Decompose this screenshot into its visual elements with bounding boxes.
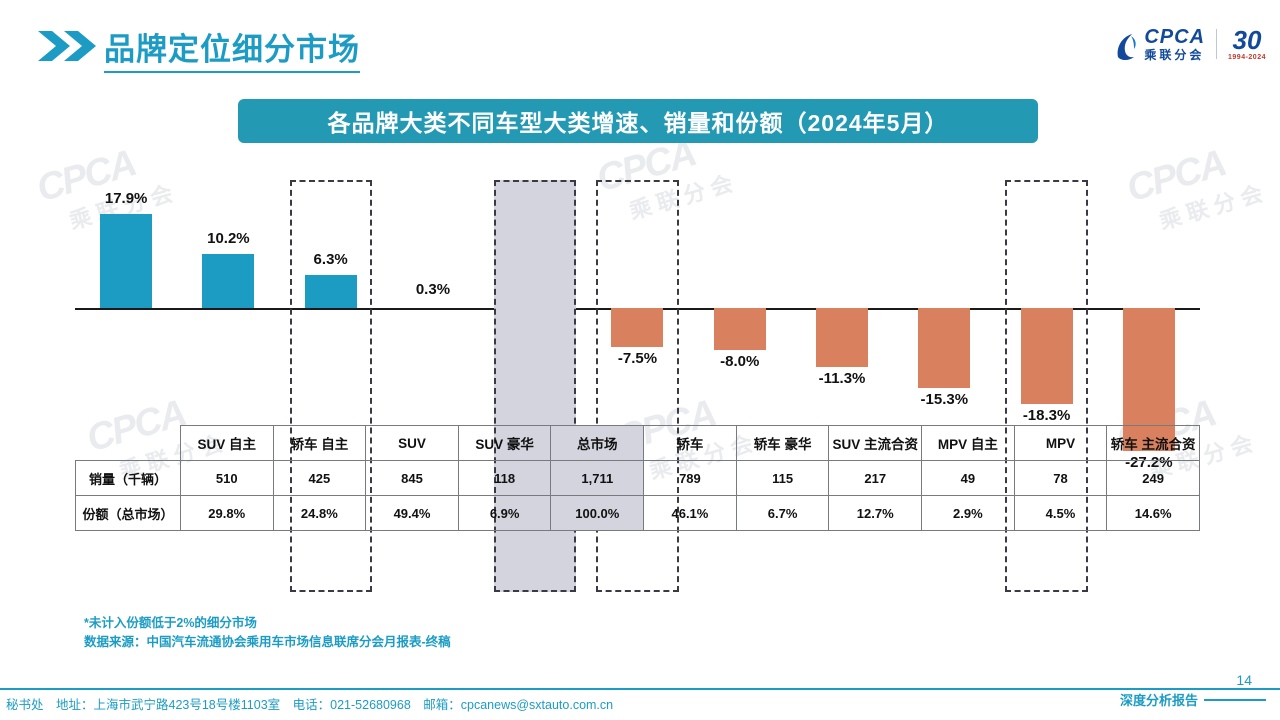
page-number: 14 [1236, 672, 1252, 688]
bar-value-label: 10.2% [207, 230, 250, 247]
cada-swirl-icon [1114, 31, 1140, 61]
sales-row-cell: 249 [1107, 461, 1200, 496]
table-header-cell: 轿车 主流合资 [1107, 426, 1200, 461]
sales-row-cell: 78 [1014, 461, 1107, 496]
footer-contact: 秘书处 地址：上海市武宁路423号18号楼1103室 电话：021-526809… [6, 694, 613, 713]
logo-brand: CPCA [1144, 27, 1205, 47]
bar-value-label: 17.9% [105, 190, 148, 207]
logo-mark: CPCA 乘联分会 [1114, 27, 1205, 61]
chart-title-banner: 各品牌大类不同车型大类增速、销量和份额（2024年5月） [238, 99, 1038, 143]
bar-MPV 自主[interactable] [918, 308, 970, 388]
logo-divider [1216, 29, 1217, 59]
data-table: SUV 自主轿车 自主SUVSUV 豪华总市场轿车轿车 豪华SUV 主流合资MP… [75, 425, 1200, 531]
table-header-cell: SUV [366, 426, 459, 461]
table-corner-cell [76, 426, 181, 461]
table-header-cell: 总市场 [551, 426, 644, 461]
bar-轿车 自主[interactable] [202, 254, 254, 308]
sales-row-cell: 115 [736, 461, 829, 496]
footnote: *未计入份额低于2%的细分市场 数据来源：中国汽车流通协会乘用车市场信息联席分会… [84, 614, 451, 653]
footer-brand-rule [1204, 699, 1266, 701]
table-row: SUV 自主轿车 自主SUVSUV 豪华总市场轿车轿车 豪华SUV 主流合资MP… [76, 426, 1200, 461]
table-header-cell: SUV 主流合资 [829, 426, 922, 461]
share-row-cell: 46.1% [644, 496, 737, 531]
share-row-cell: 2.9% [922, 496, 1015, 531]
bar-value-label: -11.3% [819, 370, 866, 387]
bar-轿车 豪华[interactable] [714, 308, 766, 350]
share-row-cell: 6.7% [736, 496, 829, 531]
share-row-cell: 29.8% [180, 496, 273, 531]
page-title: 品牌定位细分市场 [104, 24, 360, 73]
table-header-cell: 轿车 豪华 [736, 426, 829, 461]
bar-value-label: -8.0% [720, 353, 759, 370]
sales-row-cell: 789 [644, 461, 737, 496]
sales-row-cell: 49 [922, 461, 1015, 496]
share-row-cell: 6.9% [458, 496, 551, 531]
table-header-cell: 轿车 [644, 426, 737, 461]
table-row: 份额（总市场）29.8%24.8%49.4%6.9%100.0%46.1%6.7… [76, 496, 1200, 531]
bar-SUV 主流合资[interactable] [816, 308, 868, 367]
sales-row-cell: 425 [273, 461, 366, 496]
table-header-cell: MPV [1014, 426, 1107, 461]
share-row-cell: 12.7% [829, 496, 922, 531]
anniversary-number: 30 [1233, 27, 1262, 53]
sales-row-label: 销量（千辆） [76, 461, 181, 496]
bar-SUV 自主[interactable] [100, 214, 152, 308]
table-header-cell: 轿车 自主 [273, 426, 366, 461]
table-header-cell: MPV 自主 [922, 426, 1015, 461]
bar-value-label: 0.3% [416, 281, 450, 298]
sales-row-cell: 1,711 [551, 461, 644, 496]
footnote-line-2: 数据来源：中国汽车流通协会乘用车市场信息联席分会月报表-终稿 [84, 633, 451, 652]
table-header-cell: SUV 自主 [180, 426, 273, 461]
anniversary-years: 1994-2024 [1228, 54, 1266, 61]
sales-row-cell: 118 [458, 461, 551, 496]
double-chevron-right-icon [38, 29, 98, 63]
cpca-logo: CPCA 乘联分会 30 1994-2024 [1114, 22, 1266, 66]
footer-brand: 深度分析报告 [1120, 690, 1198, 709]
share-row-cell: 100.0% [551, 496, 644, 531]
share-row-cell: 14.6% [1107, 496, 1200, 531]
footer-brand-group: 深度分析报告 [1120, 690, 1266, 709]
share-row-cell: 24.8% [273, 496, 366, 531]
footnote-line-1: *未计入份额低于2%的细分市场 [84, 614, 451, 633]
sales-row-cell: 217 [829, 461, 922, 496]
share-row-label: 份额（总市场） [76, 496, 181, 531]
page-header: 品牌定位细分市场 CPCA 乘联分会 30 1994-2024 [0, 0, 1280, 86]
share-row-cell: 49.4% [366, 496, 459, 531]
anniversary-logo: 30 1994-2024 [1228, 27, 1266, 61]
share-row-cell: 4.5% [1014, 496, 1107, 531]
sales-row-cell: 510 [180, 461, 273, 496]
footer-divider [0, 688, 1280, 690]
table-header-cell: SUV 豪华 [458, 426, 551, 461]
logo-text: CPCA 乘联分会 [1144, 27, 1205, 61]
bar-value-label: -15.3% [921, 391, 969, 408]
sales-row-cell: 845 [366, 461, 459, 496]
table-row: 销量（千辆）5104258451181,7117891152174978249 [76, 461, 1200, 496]
logo-brand-cn: 乘联分会 [1144, 49, 1205, 61]
